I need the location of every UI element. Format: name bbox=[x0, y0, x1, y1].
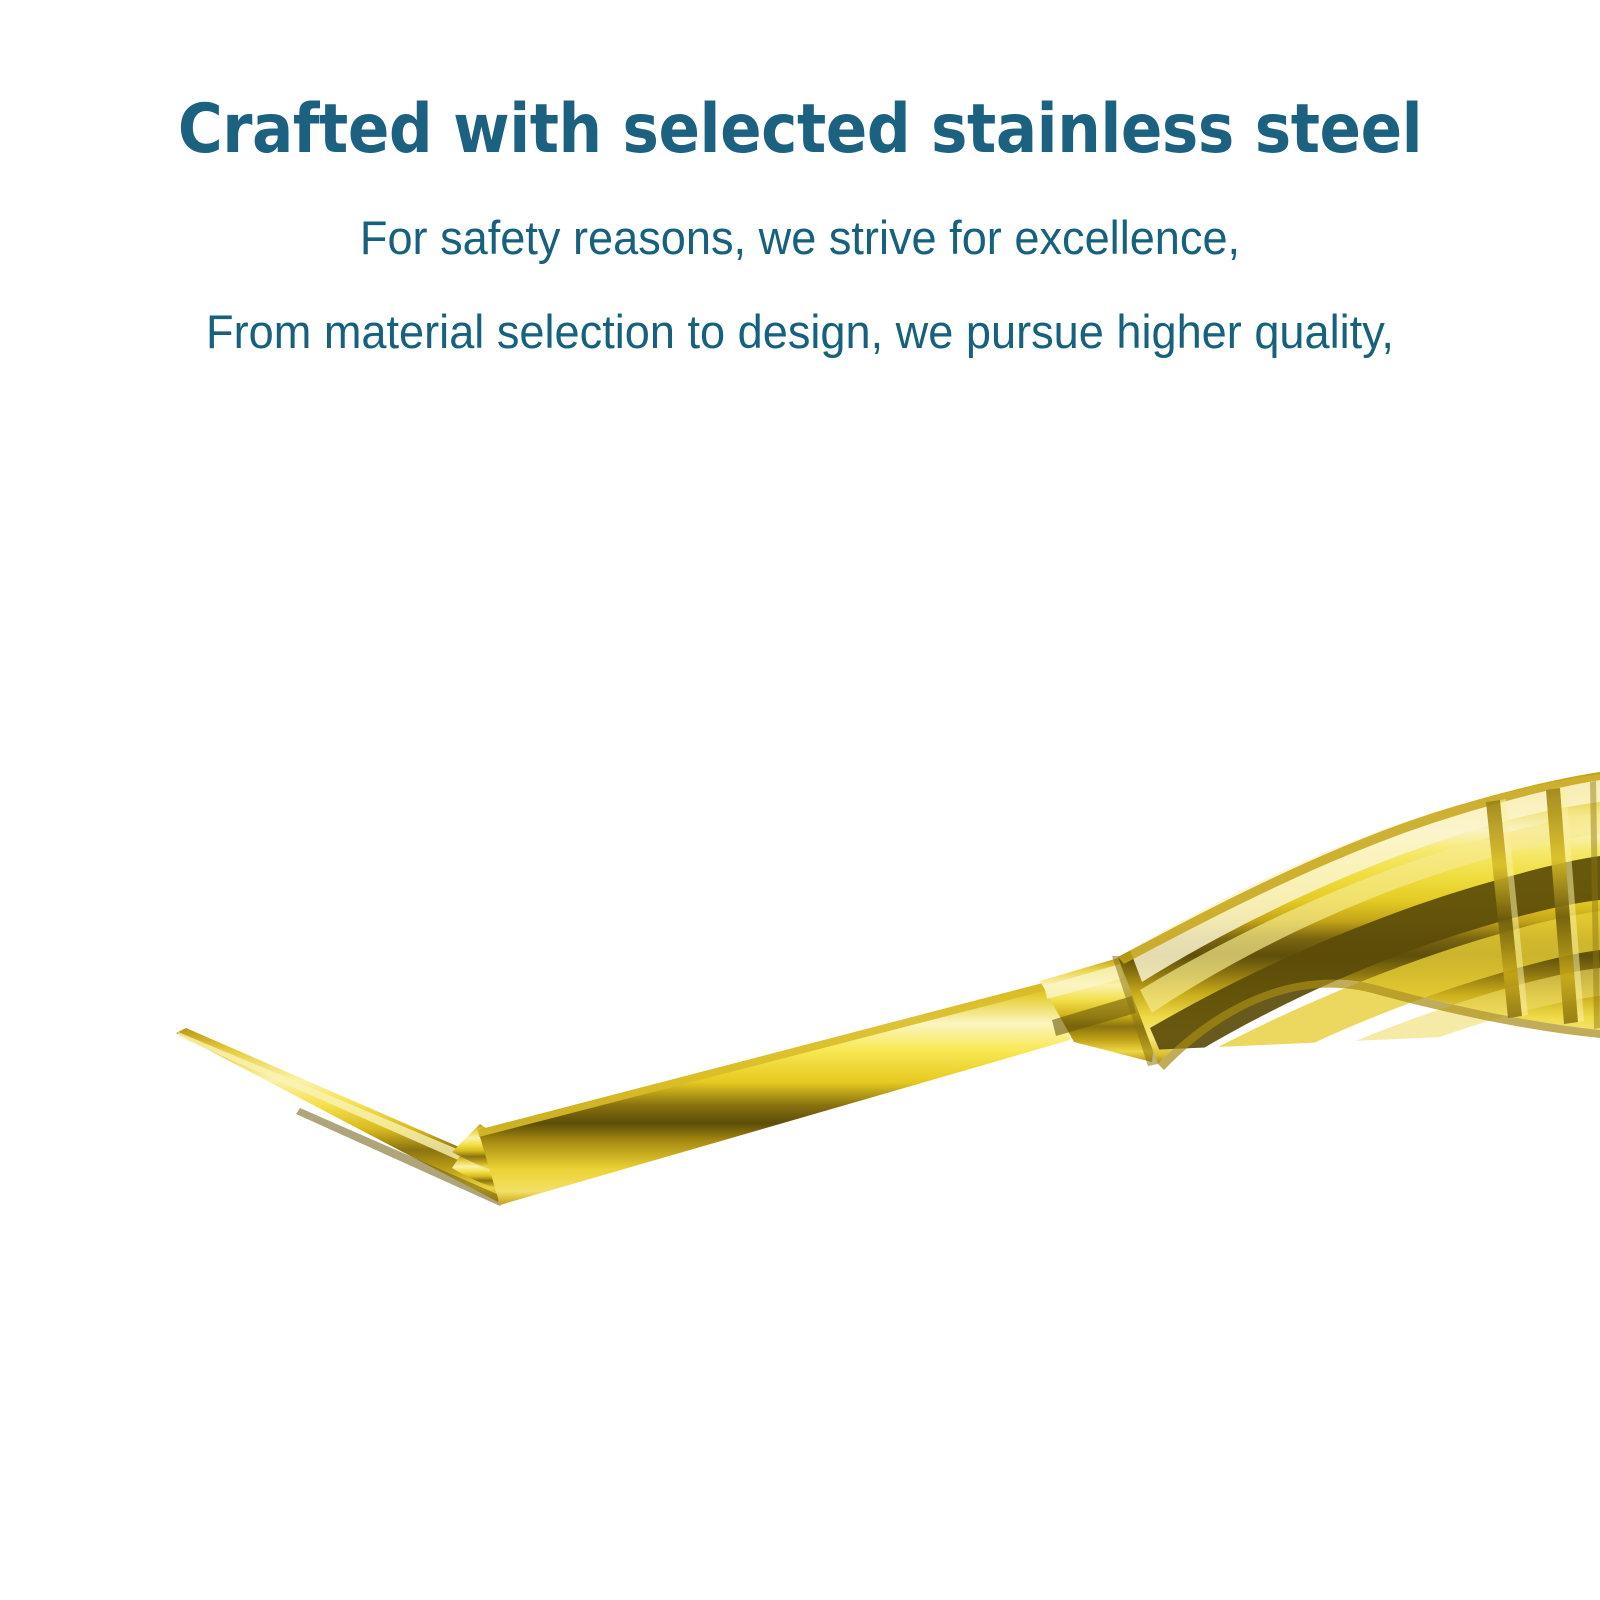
page-title: Crafted with selected stainless steel bbox=[80, 96, 1520, 164]
product-banner-page: Crafted with selected stainless steel Fo… bbox=[0, 0, 1600, 1600]
subtitle-line-2: From material selection to design, we pu… bbox=[32, 308, 1568, 355]
probe-shaft bbox=[478, 978, 1070, 1205]
probe-tip bbox=[176, 1028, 512, 1206]
dental-probe-illustration bbox=[0, 430, 1600, 1600]
product-photo bbox=[0, 430, 1600, 1600]
probe-handle bbox=[1118, 772, 1600, 1142]
subtitle-line-1: For safety reasons, we strive for excell… bbox=[32, 214, 1568, 261]
